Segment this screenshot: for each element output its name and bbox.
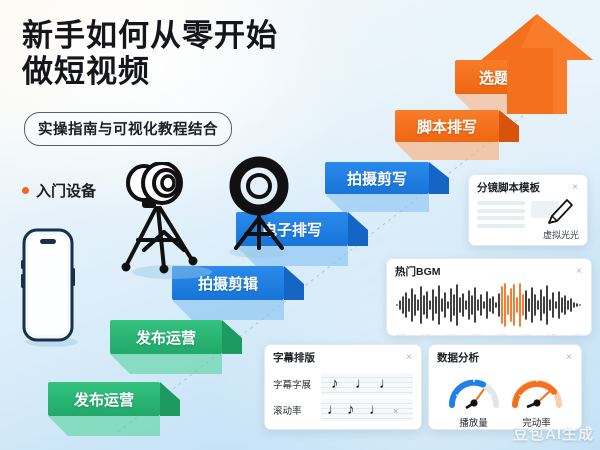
- music-note-icon: ♩: [355, 376, 370, 391]
- step-2-front: [110, 354, 222, 382]
- storyboard-card-body: 虚拟光光: [469, 197, 587, 246]
- step-4-side: [348, 212, 368, 246]
- step-1-side: [160, 382, 180, 416]
- storyboard-card-title: 分镜脚本模板: [477, 180, 540, 195]
- remove-icon[interactable]: ×: [393, 406, 398, 416]
- music-note-icon: ♪: [331, 376, 339, 391]
- music-note-icon: ♩: [379, 376, 394, 391]
- step-2-label: 发布运营: [110, 320, 222, 354]
- gauge-dial-icon: [510, 371, 564, 409]
- bgm-tick: 0:40: [522, 333, 531, 336]
- note-staff: ♩ ♪ ♩ ×: [321, 399, 413, 421]
- step-1-label: 发布运营: [48, 382, 160, 416]
- subtitle-row-scroll-rate[interactable]: 滚动率 ♩ ♪ ♩ ×: [273, 399, 413, 421]
- smartphone-icon: [18, 228, 80, 348]
- subtitle-pill: 实操指南与可视化教程结合: [24, 112, 232, 146]
- step-6-label: 脚本排写: [395, 110, 499, 142]
- step-5-label: 拍摄剪写: [325, 162, 429, 194]
- bgm-tick: 0:16: [447, 333, 456, 336]
- page-title: 新手如何从零开始 做短视频: [22, 18, 278, 90]
- card-analytics[interactable]: 数据分析 × 播放量: [428, 344, 582, 430]
- ring-light-tripod-icon: [216, 152, 302, 264]
- title-line-1: 新手如何从零开始: [22, 18, 278, 54]
- bgm-tick: 0:48: [547, 333, 556, 336]
- subtitle-card-head: 字幕排版 ×: [265, 345, 421, 367]
- gauge-dial-icon: [447, 371, 501, 409]
- bgm-card-title: 热门BGM: [395, 264, 441, 279]
- step-5[interactable]: 拍摄剪写: [325, 162, 429, 194]
- analytics-card-head: 数据分析 ×: [429, 345, 581, 367]
- step-1[interactable]: 发布运营: [48, 382, 160, 416]
- storyboard-card-head: 分镜脚本模板 ×: [469, 175, 587, 197]
- close-icon[interactable]: ×: [571, 183, 579, 193]
- step-5-side: [429, 162, 449, 194]
- subtitle-card-title: 字幕排版: [273, 350, 315, 365]
- music-note-icon: ♪: [347, 402, 355, 417]
- close-icon[interactable]: ×: [575, 267, 583, 277]
- title-line-2: 做短视频: [22, 54, 278, 90]
- bgm-axis-ticks: 0:00 0:08 0:16 0:24 0:32 0:40 0:48 0:56: [395, 332, 583, 336]
- bgm-tick: 0:00: [397, 333, 406, 336]
- subtitle-row-font-size[interactable]: 字幕字展 ♪ ♩ ♩: [273, 373, 413, 395]
- bgm-waveform-highlight: [502, 284, 523, 326]
- close-icon[interactable]: ×: [405, 353, 413, 363]
- analytics-card-body: 播放量 完动率: [429, 367, 581, 430]
- note-staff: ♪ ♩ ♩: [321, 373, 413, 395]
- step-2-side: [222, 320, 242, 354]
- music-note-icon: ♩: [369, 402, 384, 417]
- subtitle-row-label: 滚动率: [273, 403, 315, 417]
- step-6-side: [499, 110, 519, 142]
- step-2[interactable]: 发布运营: [110, 320, 222, 354]
- card-subtitle-layout[interactable]: 字幕排版 × 字幕字展 ♪ ♩ ♩ 滚动率 ♩ ♪: [264, 344, 422, 430]
- music-note-icon: ♩: [327, 402, 342, 417]
- pencil-icon: [543, 195, 577, 229]
- bgm-card-head: 热门BGM ×: [387, 259, 591, 281]
- entry-gear-text: 入门设备: [36, 180, 96, 201]
- step-3-side: [284, 266, 304, 300]
- up-arrow-head: [455, 14, 600, 114]
- storyboard-line-placeholders: [477, 199, 525, 228]
- bullet-dot-icon: [22, 187, 29, 194]
- gauge-completion-rate[interactable]: 完动率: [510, 371, 564, 429]
- close-icon[interactable]: ×: [565, 353, 573, 363]
- bgm-waveform[interactable]: 0:00 0:08 0:16 0:24 0:32 0:40 0:48 0:56: [395, 283, 583, 327]
- step-6[interactable]: 脚本排写: [395, 110, 499, 142]
- gauge-play-count[interactable]: 播放量: [447, 371, 501, 429]
- step-1-front: [48, 416, 160, 444]
- card-hot-bgm[interactable]: 热门BGM ×: [386, 258, 592, 336]
- card-storyboard-template[interactable]: 分镜脚本模板 × 虚拟光光: [468, 174, 588, 246]
- bgm-tick: 0:32: [497, 333, 506, 336]
- subtitle-card-body: 字幕字展 ♪ ♩ ♩ 滚动率 ♩ ♪ ♩ ×: [265, 367, 421, 428]
- storyboard-caption: 虚拟光光: [543, 228, 579, 241]
- infographic-poster: 发布运营 发布运营 拍摄剪辑: [0, 0, 600, 450]
- subtitle-row-label: 字幕字展: [273, 377, 315, 391]
- camera-tripod-icon: [104, 162, 216, 284]
- gauge-label: 播放量: [447, 415, 501, 429]
- watermark: 豆包AI生成: [513, 423, 594, 444]
- entry-gear-label: 入门设备: [22, 180, 96, 201]
- storyboard-preview: 虚拟光光: [531, 199, 579, 241]
- bgm-tick: 0:56: [572, 333, 581, 336]
- bgm-tick: 0:08: [422, 333, 431, 336]
- bgm-card-body: 0:00 0:08 0:16 0:24 0:32 0:40 0:48 0:56: [387, 281, 591, 334]
- analytics-card-title: 数据分析: [437, 350, 479, 365]
- bgm-tick: 0:24: [472, 333, 481, 336]
